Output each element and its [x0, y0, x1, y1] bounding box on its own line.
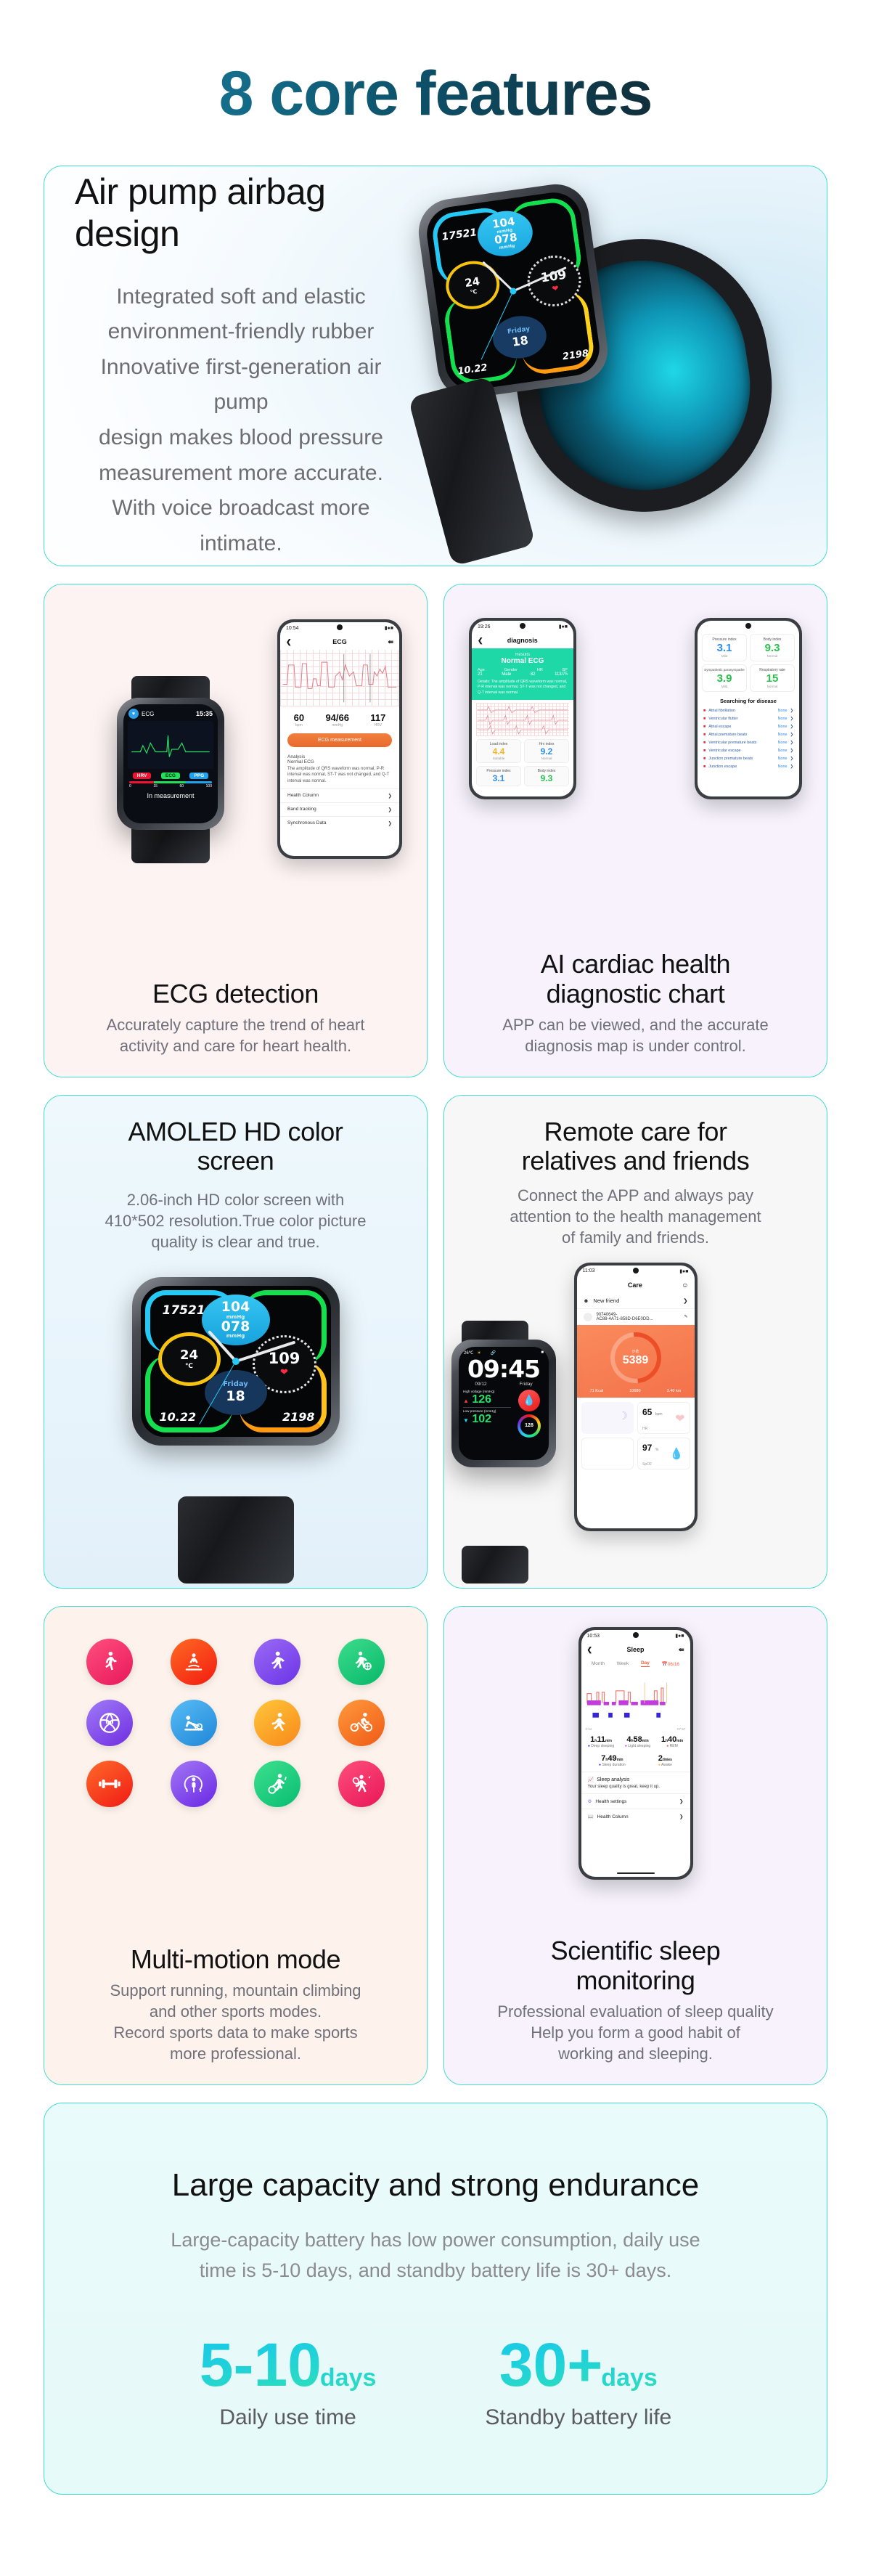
th: Age [478, 668, 485, 672]
desc-line: Large-capacity battery has low power con… [171, 2225, 700, 2256]
arrow-up-icon: ▲ [463, 1398, 469, 1404]
index-tile: Hrv index 9.2 Normal [524, 739, 569, 763]
status-icons: ▮●■ [675, 1633, 684, 1639]
tab-day[interactable]: Day [641, 1660, 650, 1667]
sleep-metric: 7h49min ● Sleep duration [599, 1754, 626, 1767]
chevron-right-icon: ❯ [683, 1297, 687, 1304]
rowing-icon[interactable] [171, 1700, 217, 1746]
weekday: Friday [223, 1380, 248, 1388]
ecg-metric: 117 HRV [370, 712, 385, 727]
scale-tick: 60 [180, 784, 184, 788]
remote-card-description: Connect the APP and always pay attention… [451, 1185, 819, 1248]
ai-table-values: 21 Male 82 113/75 [478, 672, 568, 677]
stat-label: Daily use time [200, 2405, 377, 2430]
steps-ring: 步数 5389 [600, 1321, 671, 1393]
device-row[interactable]: 90740649- AC88-4A71-858D-D6E0DD... ✎ [577, 1309, 695, 1325]
disease-row[interactable]: ■Atrial escapeNone❯ [698, 722, 799, 730]
legend-dot: ● [599, 1763, 601, 1767]
ai-ecg-strip [476, 703, 569, 736]
legend-hrv: HRV [133, 773, 152, 779]
motion-card-description: Support running, mountain climbing and o… [52, 1980, 420, 2064]
page-title: 8 core features [0, 0, 871, 166]
bp-systolic: 104 [221, 1300, 250, 1314]
results-label: Results [478, 653, 568, 657]
ecg-analysis-section: Analysis Normal ECG The amplitude of QRS… [280, 750, 399, 784]
metric-label: Deep sleeping [591, 1744, 614, 1748]
metric-label: Sleep duration [602, 1763, 625, 1767]
home-indicator [617, 1872, 655, 1874]
disease-result: None [778, 725, 788, 729]
desc-line: 2.06-inch HD color screen with [65, 1189, 406, 1210]
sleep-metrics-row-2: 7h49min ● Sleep duration 2times ● Awake [581, 1748, 690, 1772]
smartwatch-body: 17521 104 mmHg 078 mmHg 24 ℃ 109 ❤ [414, 180, 612, 402]
sleep-metric: 4h58min ● Light sleeping [625, 1735, 650, 1748]
disease-row[interactable]: ■Atrial premature beatsNone❯ [698, 730, 799, 738]
metric-minutes: 49 [608, 1754, 616, 1763]
ai-phone-right-screen: Pressure index 3.1 Mild Body index 9.3 N… [698, 621, 799, 796]
stat-unit: days [320, 2364, 377, 2392]
disease-row[interactable]: ■Junction premature beatsNone❯ [698, 754, 799, 762]
person-icon: ☻ [584, 1297, 589, 1304]
stat-standby: 30+days Standby battery life [485, 2334, 671, 2430]
result-value: Normal ECG [478, 657, 568, 665]
index-value: 9.3 [526, 773, 567, 783]
care-phone-mock: 11:03 ▮●■ Care ☺ ☻ New friend ❯ [574, 1263, 698, 1531]
td: 21 [478, 672, 483, 677]
feature-card-ai-diagnostic: 19:26 ▮●■ ❮ diagnosis Results Normal ECG [443, 584, 827, 1077]
ecg-watch-band-bottom [131, 824, 210, 863]
scale-tick: 0 [129, 784, 131, 788]
hr-tile[interactable]: 65 bpm ❤ HR [637, 1402, 690, 1434]
index-status: Mild [704, 654, 745, 658]
share-icon[interactable]: ⇚ [679, 1646, 684, 1654]
training-tile[interactable] [581, 1438, 634, 1470]
back-icon[interactable]: ❮ [286, 638, 292, 646]
ecg-watch-screen: ♥ ECG 15:35 HRV ECG PPG [123, 704, 218, 823]
sleep-artwork: 10:53 ▮●■ ❮ Sleep ⇚ Month Week Day [444, 1607, 827, 1936]
disease-result: None [778, 765, 788, 769]
desc-line: With voice broadcast more intimate. [75, 491, 407, 561]
cycling-icon[interactable] [338, 1700, 385, 1746]
share-icon[interactable]: ⇚ [388, 638, 393, 646]
status-icons: ▮●■ [559, 624, 568, 629]
feature-card-multi-motion: Multi-motion mode Support running, mount… [44, 1606, 428, 2085]
title-line: AMOLED HD color [52, 1117, 420, 1146]
ring-value: 128 [525, 1423, 533, 1428]
desc-line: quality is clear and true. [65, 1231, 406, 1252]
date-value: 18 [226, 1388, 245, 1404]
date-picker[interactable]: 📅06/16 [662, 1661, 679, 1667]
list-item-label: Synchronous Data [287, 820, 326, 826]
run-icon[interactable] [254, 1700, 300, 1746]
motion-text-block: Multi-motion mode Support running, mount… [44, 1945, 427, 2084]
sports-icons-grid [44, 1607, 427, 1807]
dumbbell-icon[interactable] [86, 1761, 133, 1807]
amoled-artwork: 17521 104 mmHg 078 mmHg 24 ℃ 109 [44, 1252, 427, 1588]
title-line: relatives and friends [451, 1146, 819, 1175]
index-tile: Pressure index 3.1 Mild [702, 634, 747, 661]
stat-steps: 10680 [629, 1389, 640, 1393]
ecg-smartwatch: ♥ ECG 15:35 HRV ECG PPG [117, 698, 224, 830]
ai-details: Details: The amplitude of QRS waveform w… [478, 680, 568, 696]
ecg-text-block: ECG detection Accurately capture the tre… [44, 979, 427, 1077]
metric-minutes-unit: min [605, 1739, 612, 1743]
care-watch-bp-block: High voltage (mmHg) ▲ 126 Low pressure (… [463, 1390, 511, 1438]
tab-month[interactable]: Month [592, 1661, 605, 1666]
disease-result: None [778, 733, 788, 737]
disease-name: Junction escape [708, 765, 737, 769]
hr-value: 65 [642, 1407, 652, 1417]
title-line: AI cardiac health [451, 950, 819, 979]
ai-ecg-strip-lines [476, 703, 569, 736]
badminton-icon[interactable] [338, 1761, 385, 1807]
metric-value: 94/66 [325, 712, 349, 723]
stat-unit: days [601, 2364, 658, 2392]
tab-week[interactable]: Week [617, 1661, 629, 1666]
ai-index-grid-left: Load index 4.4 Suitable Hrv index 9.2 No… [472, 739, 573, 786]
stat-value: 30+ [499, 2334, 603, 2395]
ai-disease-list: ■Atrial fibrillationNone❯ ■Ventricular f… [698, 706, 799, 770]
disease-result: None [778, 709, 788, 713]
status-bar: 10:54 ▮●■ [280, 622, 399, 634]
metric-minutes-unit: min [642, 1739, 649, 1743]
metric-minutes: 58 [634, 1735, 642, 1744]
metric-unit: HRV [370, 723, 385, 727]
legend-dot: ● [658, 1763, 661, 1767]
ai-card-title: AI cardiac health diagnostic chart [451, 950, 819, 1008]
motion-card-title: Multi-motion mode [52, 1945, 420, 1974]
air-pump-copy: Air pump airbag design Integrated soft a… [44, 171, 407, 562]
desc-line: Innovative first-generation air pump [75, 350, 407, 420]
add-friend-icon[interactable]: ☺ [682, 1281, 688, 1289]
index-value: 15 [752, 672, 793, 685]
status-time: 10:53 [587, 1634, 600, 1639]
chevron-right-icon: ❯ [790, 757, 793, 761]
disease-row[interactable]: ■Ventricular premature beatsNone❯ [698, 738, 799, 746]
feature-row-4: Multi-motion mode Support running, mount… [0, 1606, 871, 2085]
amoled-card-description: 2.06-inch HD color screen with 410*502 r… [52, 1189, 420, 1252]
legend-dot: ● [625, 1744, 627, 1748]
spo2-tile[interactable]: 97 % 💧 SpO2 [637, 1438, 690, 1470]
remote-artwork: 11:03 ▮●■ Care ☺ ☻ New friend ❯ [444, 1248, 827, 1588]
ai-text-block: AI cardiac health diagnostic chart APP c… [444, 950, 827, 1077]
disease-result: None [778, 757, 788, 761]
heart-rate-value: 109 [269, 1350, 300, 1367]
ecg-phone-mock: 10:54 ▮●■ ❮ ECG ⇚ [277, 619, 402, 859]
status-time: 10:54 [286, 626, 299, 631]
analysis-subtitle: Normal ECG [287, 759, 392, 765]
camera-notch [520, 623, 526, 629]
ai-table-headers: Age Gender HR BP [478, 668, 568, 672]
bp-diastolic-unit: mmHg [499, 244, 515, 250]
index-value: 3.1 [704, 642, 745, 654]
camera-notch [745, 623, 751, 629]
bullet-icon: ■ [703, 741, 706, 745]
th: HR [537, 668, 543, 672]
chevron-right-icon: ❯ [388, 807, 392, 812]
watch-band-lower [408, 376, 536, 566]
remote-text-block: Remote care for relatives and friends Co… [444, 1096, 827, 1248]
disease-name: Atrial fibrillation [708, 709, 735, 713]
metric-label: Light sleeping [628, 1744, 650, 1748]
ecg-measure-button[interactable]: ECG measurement [287, 733, 392, 747]
ecg-app-bar: ❮ ECG ⇚ [280, 634, 399, 650]
ecg-metrics-row: 60 bpm 94/66 mmHg 117 HRV [280, 706, 399, 730]
heart-icon: ❤ [675, 1411, 684, 1426]
desc-line: working and sleeping. [465, 2043, 806, 2064]
new-friend-label: New friend [593, 1297, 619, 1304]
chevron-right-icon: ❯ [790, 717, 793, 721]
bullet-icon: ■ [703, 709, 706, 713]
disease-row[interactable]: ■Ventricular escapeNone❯ [698, 746, 799, 754]
temperature-value: 24 [180, 1348, 198, 1363]
ecg-watch-status: In measurement [123, 792, 218, 799]
heart-icon: ❤ [280, 1367, 288, 1378]
battery-card-description: Large-capacity battery has low power con… [171, 2225, 700, 2286]
chevron-right-icon: ❯ [790, 709, 793, 713]
sleep-phone-mock: 10:53 ▮●■ ❮ Sleep ⇚ Month Week Day [578, 1627, 693, 1880]
walk-icon[interactable] [86, 1639, 133, 1685]
chevron-right-icon: ❯ [679, 1798, 683, 1804]
ecg-artwork: 10:54 ▮●■ ❮ ECG ⇚ [44, 584, 427, 979]
metric-minutes: 11 [597, 1735, 605, 1744]
th: BP [563, 668, 568, 672]
disease-name: Atrial premature beats [708, 733, 747, 737]
volleyball-icon[interactable] [86, 1700, 133, 1746]
disease-name: Atrial escape [708, 725, 731, 729]
selected-date: 06/16 [668, 1662, 679, 1667]
blood-drop-icon: 💧 [518, 1390, 540, 1411]
index-status: Normal [526, 757, 567, 760]
index-tile: Pressure index 3.1 [476, 766, 521, 786]
title-line: Remote care for [451, 1117, 819, 1146]
spo2-unit: % [655, 1448, 658, 1452]
feature-card-ecg: 10:54 ▮●■ ❮ ECG ⇚ [44, 584, 428, 1077]
ecg-app-title: ECG [332, 638, 347, 645]
list-item-label: Health Column [287, 793, 319, 799]
ai-search-title: Searching for disease [698, 698, 799, 704]
title-line: Scientific sleep [451, 1936, 819, 1965]
analysis-title: Analysis [287, 754, 392, 759]
legend-ecg: ECG [161, 773, 180, 779]
feature-page: 8 core features Air pump airbag design I… [0, 0, 871, 2524]
sleep-metric: 1h40min ● REM [661, 1735, 683, 1748]
ai-app-bar: ❮ diagnosis [472, 632, 573, 648]
sleep-tile[interactable]: ☽ [581, 1402, 634, 1434]
metric-value: 117 [370, 712, 385, 723]
title-line: monitoring [451, 1966, 819, 1995]
desc-line: of family and friends. [465, 1227, 806, 1248]
index-value: 9.2 [526, 746, 567, 757]
ai-result-banner: Results Normal ECG Age Gender HR BP 21 M… [472, 648, 573, 700]
hr-unit: bpm [655, 1412, 663, 1417]
air-pump-product-image: 17521 104 mmHg 078 mmHg 24 ℃ 109 ❤ [407, 166, 827, 566]
desc-line: diagnosis map is under control. [465, 1035, 806, 1056]
amoled-watch-band [178, 1496, 294, 1583]
index-value: 4.4 [478, 746, 519, 757]
metric-unit: mmHg [325, 723, 349, 727]
index-status: Suitable [478, 757, 519, 760]
td: Male [502, 672, 511, 677]
device-avatar [584, 1313, 592, 1321]
disease-row[interactable]: ■Junction escapeNone❯ [698, 762, 799, 770]
desc-line: measurement more accurate. [75, 456, 407, 492]
chevron-right-icon: ❯ [388, 793, 392, 799]
care-watch-bp-row: High voltage (mmHg) ▲ 126 Low pressure (… [459, 1387, 549, 1438]
stat-label: Standby battery life [485, 2405, 671, 2430]
battery-card-title: Large capacity and strong endurance [172, 2167, 700, 2204]
analysis-title: Sleep analysis [597, 1777, 629, 1782]
back-icon[interactable]: ❮ [478, 637, 483, 645]
high-value: 126 [472, 1393, 491, 1406]
camera-notch [337, 624, 343, 630]
hr-ring-icon: 128 [518, 1414, 541, 1438]
index-tile: Load index 4.4 Suitable [476, 739, 521, 763]
ecg-watch-time: 15:35 [196, 710, 213, 717]
new-friend-row[interactable]: ☻ New friend ❯ [577, 1293, 695, 1309]
book-icon: 📖 [588, 1814, 594, 1819]
watch-date-pod: Friday 18 [205, 1370, 267, 1415]
high-value-row: ▲ 126 [463, 1393, 511, 1406]
sports-icons-grid-wrapper [44, 1607, 427, 1945]
scale-tick: 100 [206, 784, 212, 788]
list-item[interactable]: Synchronous Data❯ [280, 816, 399, 830]
disease-result: None [778, 741, 788, 745]
moon-icon: ☽ [618, 1409, 628, 1422]
list-item-health-settings[interactable]: ⚙ Health settings ❯ [581, 1793, 690, 1809]
sleep-metrics-row-1: 1h11min ● Deep sleeping 4h58min ● Light … [581, 1729, 690, 1748]
hr-label: HR [642, 1427, 647, 1431]
desc-line: and other sports modes. [65, 2001, 406, 2022]
metric-minutes-unit: min [617, 1758, 623, 1762]
scale-tick: 15 [153, 784, 158, 788]
temperature-unit: ℃ [470, 288, 478, 295]
disease-row[interactable]: ■Atrial fibrillationNone❯ [698, 706, 799, 714]
ecg-watch-waveform [128, 721, 213, 769]
metric-minutes-unit: min [676, 1739, 683, 1743]
back-icon[interactable]: ❮ [587, 1646, 593, 1654]
ai-phone-right: Pressure index 3.1 Mild Body index 9.3 N… [695, 618, 802, 799]
watch-screen: 17521 104 mmHg 078 mmHg 24 ℃ 109 ❤ [423, 189, 602, 393]
status-bar [698, 621, 799, 632]
spo2-label: SpO2 [642, 1462, 652, 1467]
desc-line: APP can be viewed, and the accurate [465, 1014, 806, 1035]
scooter-icon[interactable] [254, 1761, 300, 1807]
index-label: Sympathetic parasympathe [704, 668, 745, 672]
watch-hand-pivot [232, 1358, 240, 1365]
list-item[interactable]: Health Column❯ [280, 788, 399, 802]
fastwalk-icon[interactable] [254, 1639, 300, 1685]
title-line: diagnostic chart [451, 979, 819, 1008]
remote-card-title: Remote care for relatives and friends [451, 1117, 819, 1176]
desc-line: Integrated soft and elastic [75, 280, 407, 315]
index-tile: Sympathetic parasympathe 3.9 Mild [702, 664, 747, 692]
ecg-waveform-chart [280, 650, 399, 706]
chart-icon: 📈 [588, 1777, 594, 1782]
list-item[interactable]: Band tracking❯ [280, 802, 399, 816]
camera-notch [633, 1632, 639, 1638]
status-icons: ▮●■ [679, 1268, 688, 1274]
care-app-title: Care [628, 1281, 642, 1289]
care-watch-screen: 26℃ ☀ 🔗 ■ 09:45 09/12 Friday High [459, 1347, 549, 1460]
steps-panel: 步数 5389 71 Kcal 10680 3.40 km [577, 1325, 695, 1398]
ecg-card-description: Accurately capture the trend of heart ac… [52, 1014, 420, 1056]
analysis-body: Your sleep quality is great, keep it up. [588, 1785, 684, 1789]
air-pump-title: Air pump airbag design [75, 171, 407, 255]
sleep-chart-svg [586, 1671, 686, 1729]
amoled-watch-screen: 17521 104 mmHg 078 mmHg 24 ℃ 109 [141, 1286, 331, 1437]
steps-footer-stats: 71 Kcal 10680 3.40 km [577, 1389, 695, 1393]
metric-label: Awake [661, 1763, 672, 1767]
watch-blood-pressure-pod: 104 mmHg 078 mmHg [202, 1295, 270, 1345]
sleep-analysis: 📈Sleep analysis Your sleep quality is gr… [581, 1772, 690, 1793]
care-watch-time: 09:45 [459, 1357, 549, 1381]
index-tile: Respiratory rate 15 Normal [750, 664, 795, 692]
disease-name: Ventricular escape [708, 749, 740, 753]
desc-line: time is 5-10 days, and standby battery l… [171, 2256, 700, 2286]
gear-icon: ⚙ [588, 1798, 592, 1804]
bp-systolic-unit: mmHg [226, 1315, 245, 1320]
feature-card-sleep: 10:53 ▮●■ ❮ Sleep ⇚ Month Week Day [443, 1606, 827, 2085]
jumprope-icon[interactable] [171, 1761, 217, 1807]
ai-phone-left: 19:26 ▮●■ ❮ diagnosis Results Normal ECG [469, 618, 576, 799]
desc-line: design makes blood pressure [75, 420, 407, 456]
legend-dot: ● [666, 1744, 668, 1748]
metric-label: REM [670, 1744, 678, 1748]
details-body: The amplitude of QRS waveform was normal… [478, 680, 567, 695]
feature-card-remote-care: Remote care for relatives and friends Co… [443, 1095, 827, 1589]
amoled-text-block: AMOLED HD color screen 2.06-inch HD colo… [44, 1096, 427, 1252]
axis-start: 0:54 [586, 1727, 592, 1731]
chevron-right-icon: ❯ [679, 1814, 683, 1819]
disease-row[interactable]: ■Ventricular flutterNone❯ [698, 714, 799, 722]
index-tile: Body index 9.3 [524, 766, 569, 786]
temperature-value: 24 [464, 274, 481, 290]
care-watch-widgets: 💧 128 [514, 1390, 544, 1438]
list-item-health-column[interactable]: 📖 Health Column ❯ [581, 1809, 690, 1824]
spo2-value: 97 [642, 1443, 652, 1453]
basketball-icon[interactable] [338, 1639, 385, 1685]
air-pump-description: Integrated soft and elastic environment-… [75, 280, 407, 562]
ecg-watch-header: ♥ ECG 15:35 [123, 704, 218, 721]
metric-unit: bpm [294, 723, 304, 727]
arrow-down-icon: ▼ [463, 1417, 469, 1424]
title-line: screen [52, 1146, 420, 1175]
disease-name: Ventricular flutter [708, 717, 737, 721]
ecg-watch-scale-labels: 0 15 60 100 [123, 783, 218, 789]
desc-line: Accurately capture the trend of heart [65, 1014, 406, 1035]
desc-line: Connect the APP and always pay [465, 1185, 806, 1206]
index-status: Normal [752, 685, 793, 688]
feature-card-amoled: AMOLED HD color screen 2.06-inch HD colo… [44, 1095, 428, 1589]
metric-count-unit: times [663, 1758, 672, 1762]
amoled-card-title: AMOLED HD color screen [52, 1117, 420, 1176]
edit-icon[interactable]: ✎ [684, 1314, 687, 1319]
ai-app-title: diagnosis [507, 637, 538, 644]
chevron-right-icon: ❯ [790, 765, 793, 769]
feature-card-air-pump: Air pump airbag design Integrated soft a… [44, 166, 827, 566]
disease-name: Junction premature beats [708, 757, 753, 761]
ecg-metric: 60 bpm [294, 712, 304, 727]
status-time: 11:03 [583, 1268, 595, 1273]
ecg-list: Health Column❯ Band tracking❯ Synchronou… [280, 788, 399, 830]
disease-name: Ventricular premature beats [708, 741, 756, 745]
yoga-icon[interactable] [171, 1639, 217, 1685]
stat-kcal: 71 Kcal [590, 1389, 603, 1393]
disease-result: None [778, 717, 788, 721]
stat-daily-use: 5-10days Daily use time [200, 2334, 377, 2430]
chevron-right-icon: ❯ [790, 725, 793, 729]
